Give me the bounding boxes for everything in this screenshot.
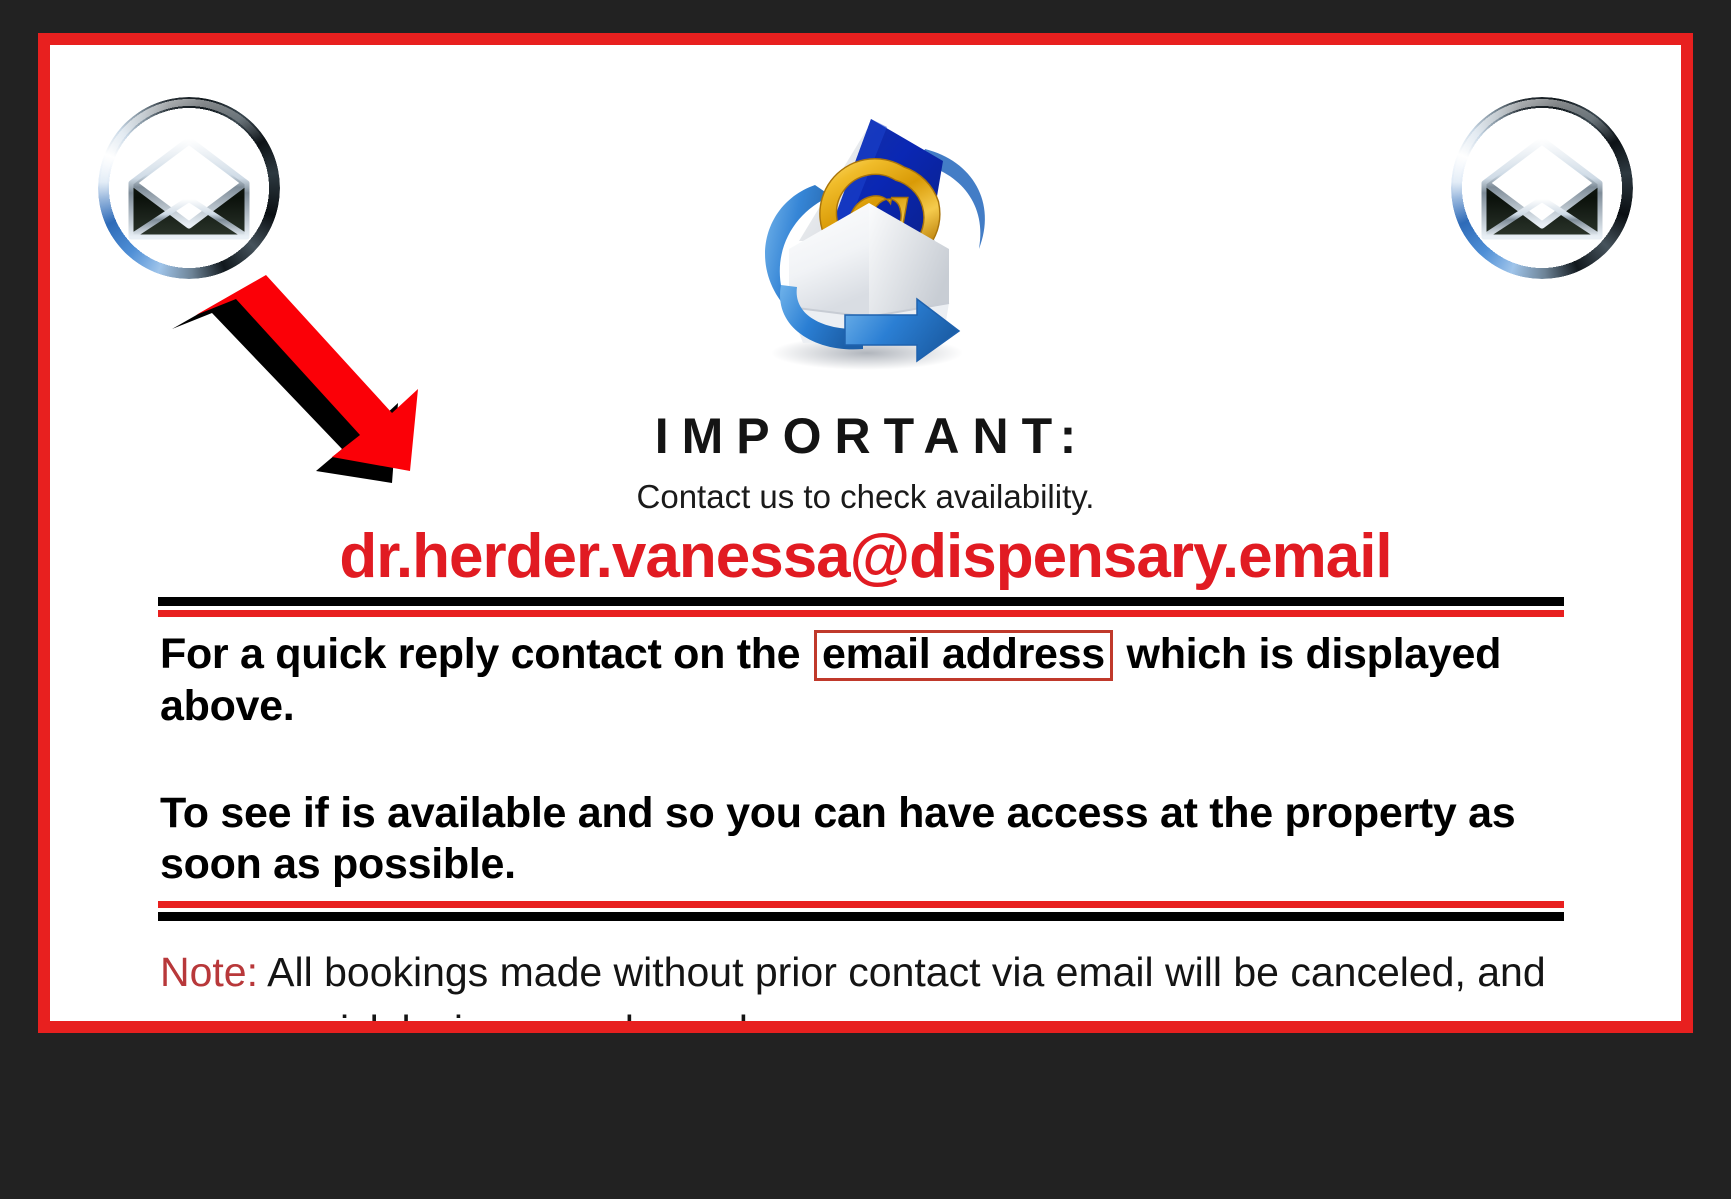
divider-bar-red bbox=[158, 610, 1564, 617]
note-label: Note: bbox=[160, 949, 258, 995]
highlight-email-address: email address bbox=[814, 630, 1113, 681]
paragraph-two: To see if is available and so you can ha… bbox=[160, 788, 1570, 890]
envelope-badge-left bbox=[98, 97, 280, 279]
body-copy: For a quick reply contact on the email a… bbox=[160, 629, 1570, 890]
divider-bottom bbox=[158, 901, 1564, 921]
divider-bar-black bbox=[158, 597, 1564, 606]
envelope-open-icon bbox=[1478, 137, 1606, 241]
divider-top bbox=[158, 597, 1564, 617]
page-title: IMPORTANT: bbox=[50, 411, 1681, 461]
divider-bar-black bbox=[158, 912, 1564, 921]
subtitle: Contact us to check availability. bbox=[50, 480, 1681, 513]
note-block: Note: All bookings made without prior co… bbox=[160, 943, 1580, 1021]
poster-background: IMPORTANT: Contact us to check availabil… bbox=[0, 0, 1731, 1199]
paragraph-one: For a quick reply contact on the email a… bbox=[160, 629, 1570, 732]
paragraph-one-lead: For a quick reply contact on the bbox=[160, 630, 800, 678]
divider-bar-red bbox=[158, 901, 1564, 908]
at-symbol-email-envelope-icon bbox=[711, 53, 1021, 373]
poster-card: IMPORTANT: Contact us to check availabil… bbox=[50, 45, 1681, 1021]
contact-email[interactable]: dr.herder.vanessa@dispensary.email bbox=[50, 523, 1681, 591]
poster-red-frame: IMPORTANT: Contact us to check availabil… bbox=[38, 33, 1693, 1033]
note-text: All bookings made without prior contact … bbox=[160, 949, 1546, 1021]
envelope-badge-right bbox=[1451, 97, 1633, 279]
envelope-open-icon bbox=[125, 137, 253, 241]
